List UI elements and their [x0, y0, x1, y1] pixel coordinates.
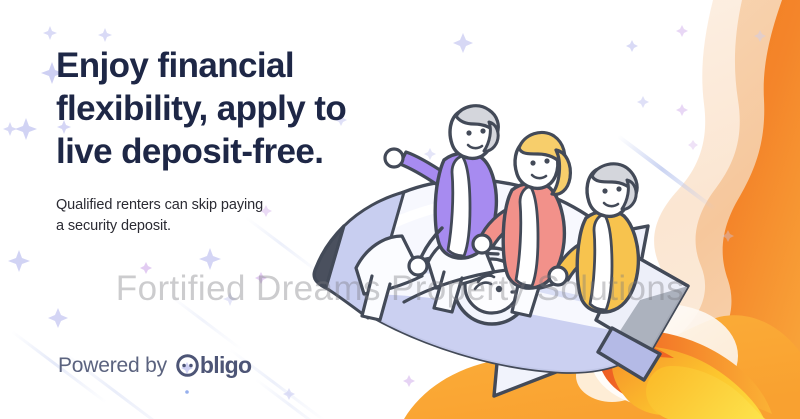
rider-purple-mouth	[468, 145, 482, 148]
rider-yellow-shirt	[590, 214, 612, 310]
rocket-thruster-band	[598, 328, 660, 380]
rider-yellow-hand	[549, 267, 567, 285]
sparkle-icon	[403, 375, 415, 387]
sparkle-icon	[3, 122, 17, 136]
text-content: Enjoy financial flexibility, apply to li…	[56, 44, 386, 237]
sparkle-dot-icon	[320, 263, 324, 267]
rider-purple-hair-back	[484, 122, 498, 151]
exhaust-puff-small	[576, 350, 648, 402]
subheading: Qualified renters can skip paying a secu…	[56, 195, 386, 237]
sparkle-icon	[676, 104, 688, 116]
rider-purple-arm	[396, 160, 432, 176]
rider-coral-ponytail	[552, 150, 570, 194]
seat-3-leg	[512, 276, 540, 316]
sparkle-icon	[48, 308, 68, 328]
rider-purple	[385, 106, 498, 275]
rocket-thruster-shade	[618, 286, 688, 352]
rocket-porthole-inner	[465, 259, 519, 313]
rider-purple-head	[450, 109, 493, 158]
sparkle-icon	[43, 26, 57, 40]
rider-purple-eye	[480, 128, 485, 133]
rider-yellow-sleeve	[558, 238, 600, 280]
rocket-body-shade-light	[300, 264, 690, 316]
exhaust-puff	[590, 304, 738, 408]
sparkle-icon	[199, 248, 221, 270]
page-title: Enjoy financial flexibility, apply to li…	[56, 44, 386, 173]
streak-7	[169, 294, 243, 351]
seat-3	[506, 240, 568, 292]
powered-by-label: Powered by	[58, 354, 167, 378]
sparkle-icon	[98, 28, 112, 42]
seat-2-leg	[434, 272, 462, 312]
rider-coral-hair	[519, 132, 565, 166]
rider-coral-torso	[503, 183, 564, 288]
rocket-fin-upper	[596, 226, 648, 268]
porthole-glint	[475, 283, 491, 289]
watermark-text: Fortified Dreams Property Solutions	[0, 269, 800, 309]
seat-1-leg	[362, 276, 390, 320]
powered-by-block: Powered by bligo	[58, 352, 251, 379]
headline-line-1: Enjoy financial	[56, 46, 294, 85]
rider-purple-hand	[385, 149, 403, 167]
rider-purple-shirt	[448, 156, 470, 256]
rider-yellow	[549, 164, 638, 312]
sparkle-dot-icon	[185, 390, 189, 394]
rider-yellow-eye	[616, 186, 621, 191]
rider-coral-sleeve	[482, 204, 526, 248]
rider-yellow-eye	[602, 188, 607, 193]
rider-yellow-torso	[577, 211, 638, 312]
sparkle-icon	[15, 118, 37, 140]
rocket-body-shade	[300, 294, 680, 400]
sparkle-icon	[424, 148, 436, 160]
obligo-circle-face-icon	[176, 354, 199, 377]
rocket-fin-lower	[494, 330, 556, 396]
orange-bottom-blob	[404, 315, 800, 419]
sparkle-icon	[637, 96, 649, 108]
sparkle-icon	[626, 40, 638, 52]
rocket-rail	[366, 253, 498, 284]
rider-coral-hand	[473, 235, 491, 253]
flame-tip	[600, 339, 674, 362]
sparkle-icon	[8, 250, 30, 272]
flame-inner	[646, 366, 766, 419]
sparkle-icon	[140, 262, 152, 274]
sparkle-icon	[688, 140, 698, 150]
headline-line-2: flexibility, apply to	[56, 89, 346, 128]
streak-1	[617, 134, 717, 211]
seat-1	[356, 236, 422, 294]
wave-inner	[691, 0, 800, 419]
headline-line-3: live deposit-free.	[56, 132, 323, 171]
rider-coral-eye	[530, 160, 535, 165]
rider-purple-torso	[435, 153, 496, 258]
sparkle-icon	[676, 25, 688, 37]
sled-skid	[404, 268, 540, 302]
subhead-line-1: Qualified renters can skip paying	[56, 197, 263, 213]
rocket-thruster	[596, 252, 688, 352]
rider-yellow-hair-back	[622, 180, 636, 209]
rider-coral-shirt	[516, 186, 538, 286]
seat-2	[428, 232, 494, 288]
rider-coral-eye	[544, 158, 549, 163]
rider-purple-forearm	[420, 228, 442, 260]
sparkle-icon	[223, 292, 237, 306]
sparkle-icon	[453, 33, 473, 53]
rocket-thruster-edge	[628, 252, 688, 286]
rider-purple-eye	[466, 130, 471, 135]
rider-coral-mouth	[532, 175, 546, 178]
wave-mid	[659, 0, 800, 419]
rider-yellow-hair	[592, 164, 637, 194]
rider-purple-hair	[456, 106, 498, 134]
porthole-dot	[496, 286, 502, 292]
obligo-wordmark: bligo	[200, 352, 251, 379]
flame-outer	[598, 330, 772, 414]
sparkle-icon	[722, 230, 734, 242]
sparkle-icon	[283, 388, 295, 400]
flame-mid	[612, 346, 764, 419]
promo-banner: Enjoy financial flexibility, apply to li…	[0, 0, 800, 419]
rider-yellow-head	[587, 167, 630, 216]
subhead-line-2: a security deposit.	[56, 218, 171, 234]
streak-6	[255, 378, 330, 419]
porthole-glint	[478, 276, 494, 282]
sparkle-icon	[255, 272, 267, 284]
rider-purple-grip	[409, 257, 427, 275]
sparkle-icon	[754, 30, 766, 42]
rider-coral-arm	[488, 212, 518, 238]
rocket-porthole-outer	[454, 248, 530, 324]
obligo-logo[interactable]: bligo	[176, 352, 251, 379]
rider-yellow-mouth	[604, 203, 618, 206]
rider-purple-sleeve	[400, 152, 446, 184]
wave-outer	[610, 0, 800, 419]
rider-yellow-arm	[564, 244, 592, 270]
rider-coral-head	[515, 139, 558, 188]
rider-coral	[473, 132, 570, 288]
